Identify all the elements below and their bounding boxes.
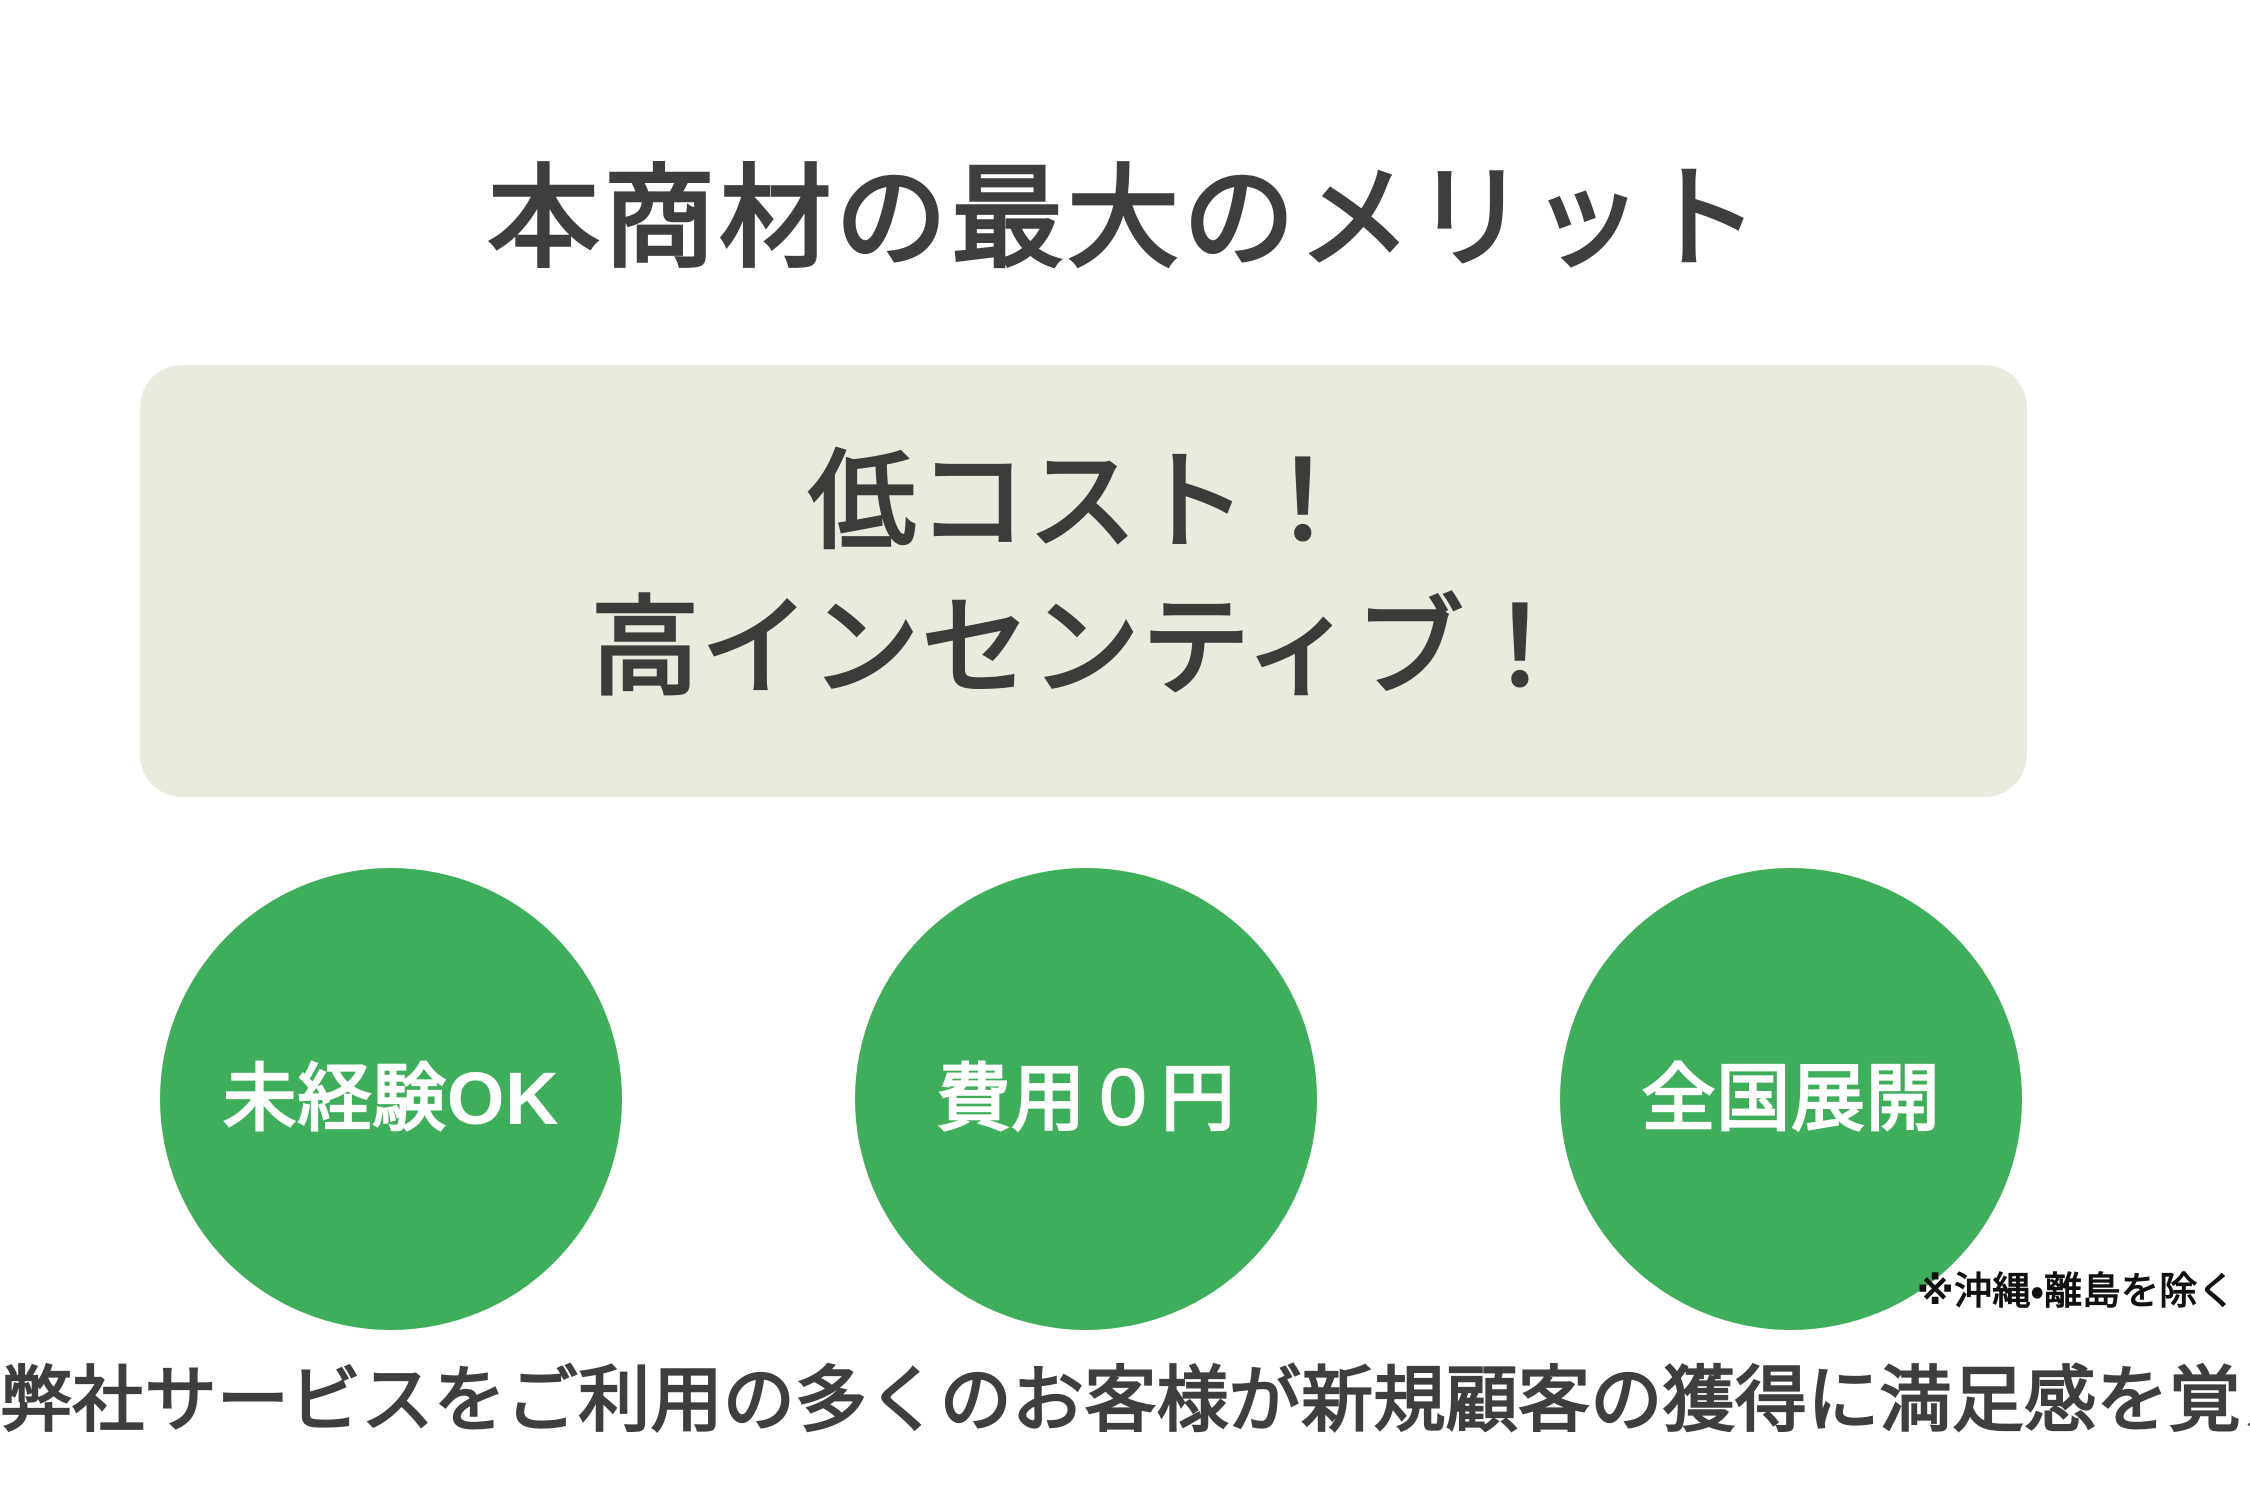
- footnote-note: ※沖縄・離島を除く: [1917, 1260, 2236, 1315]
- badge-circle-no-experience: 未経験OK: [160, 868, 622, 1330]
- badge-circle-group: 未経験OK 費用０円 全国展開: [0, 868, 2250, 1330]
- slide-root: 本商材の最大のメリット 低コスト！ 高インセンティブ！ 未経験OK 費用０円 全…: [0, 0, 2250, 1500]
- highlight-line-1: 低コスト！: [808, 433, 1359, 571]
- badge-label: 未経験OK: [223, 1062, 560, 1136]
- badge-circle-zero-cost: 費用０円: [855, 868, 1317, 1330]
- page-title: 本商材の最大のメリット: [0, 153, 2250, 285]
- badge-label: 費用０円: [937, 1062, 1236, 1136]
- highlight-panel: 低コスト！ 高インセンティブ！: [140, 365, 2027, 797]
- bottom-caption: 弊社サービスをご利用の多くのお客様が新規顧客の獲得に満足感を覚えています: [0, 1358, 2250, 1446]
- highlight-line-2: 高インセンティブ！: [591, 579, 1576, 717]
- badge-label: 全国展開: [1642, 1062, 1941, 1136]
